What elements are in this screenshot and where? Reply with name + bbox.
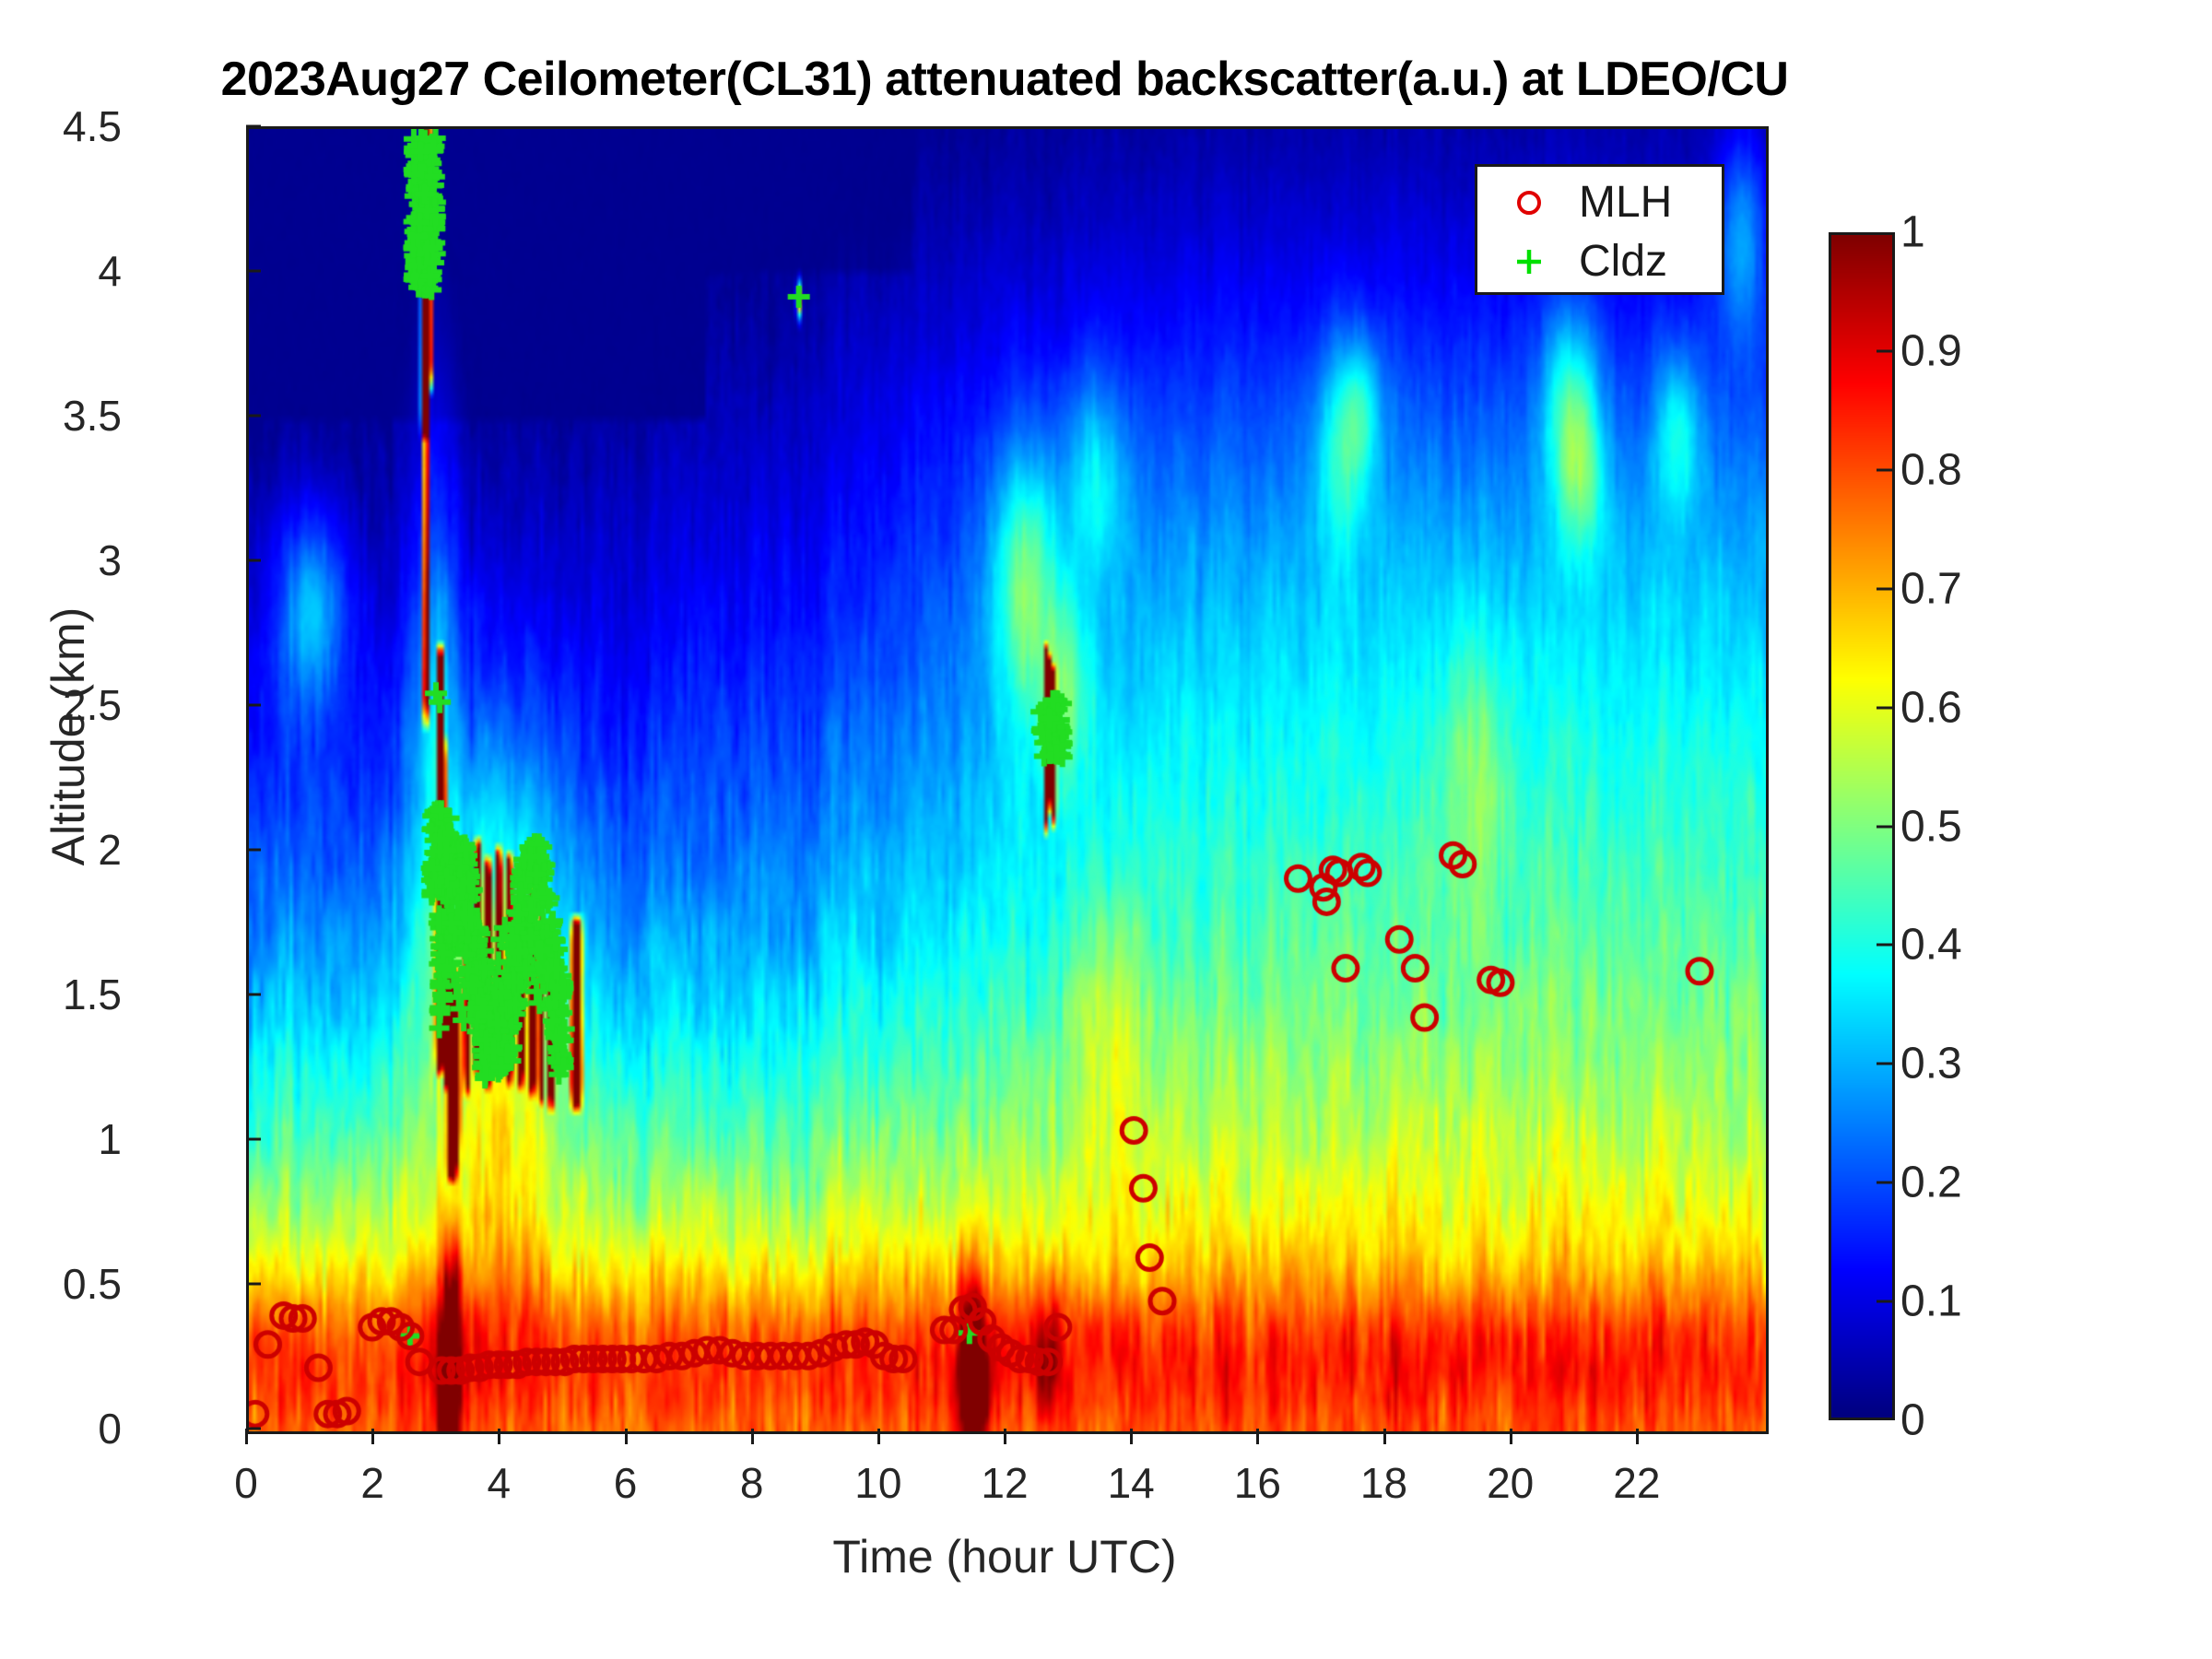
- x-tick-mark: [1004, 1429, 1006, 1444]
- y-tick-label: 1.5: [63, 970, 122, 1019]
- x-tick-mark: [1130, 1429, 1133, 1444]
- x-tick-label: 4: [488, 1458, 512, 1508]
- colorbar-tick-mark: [1877, 349, 1895, 352]
- colorbar-tick-mark: [1877, 1300, 1895, 1303]
- x-tick-mark: [245, 1429, 248, 1444]
- colorbar-tick-label: 0.3: [1900, 1039, 1962, 1089]
- colorbar-tick-label: 0.7: [1900, 563, 1962, 614]
- legend-entry-mlh[interactable]: MLH: [1477, 174, 1727, 231]
- colorbar-tick-mark: [1877, 706, 1895, 709]
- x-axis-label: Time (hour UTC): [246, 1530, 1763, 1583]
- y-tick-label: 0: [98, 1404, 122, 1453]
- x-tick-label: 10: [854, 1458, 901, 1508]
- x-tick-mark: [877, 1429, 880, 1444]
- y-tick-mark: [246, 849, 261, 852]
- colorbar-tick-label: 0.4: [1900, 920, 1962, 971]
- y-tick-mark: [246, 559, 261, 562]
- legend-entry-cldz[interactable]: Cldz: [1477, 233, 1727, 290]
- x-tick-mark: [625, 1429, 628, 1444]
- legend[interactable]: MLH Cldz: [1475, 164, 1724, 295]
- y-tick-label: 3.5: [63, 391, 122, 441]
- colorbar-tick-label: 0.6: [1900, 682, 1962, 733]
- circle-marker-icon: [1505, 174, 1553, 231]
- page-title: 2023Aug27 Ceilometer(CL31) attenuated ba…: [0, 52, 2009, 107]
- y-tick-mark: [246, 1283, 261, 1286]
- x-tick-mark: [1636, 1429, 1639, 1444]
- colorbar-tick-label: 0.9: [1900, 325, 1962, 376]
- y-tick-mark: [246, 415, 261, 418]
- colorbar-tick-mark: [1877, 944, 1895, 947]
- legend-label-mlh: MLH: [1579, 174, 1717, 231]
- colorbar-tick-label: 1: [1900, 207, 1925, 258]
- x-tick-label: 2: [360, 1458, 384, 1508]
- x-tick-label: 18: [1360, 1458, 1407, 1508]
- legend-label-cldz: Cldz: [1579, 233, 1717, 290]
- x-tick-mark: [1256, 1429, 1259, 1444]
- colorbar-tick-label: 0.2: [1900, 1158, 1962, 1208]
- x-tick-mark: [1383, 1429, 1386, 1444]
- y-tick-mark: [246, 1428, 261, 1430]
- x-tick-label: 20: [1487, 1458, 1534, 1508]
- colorbar-tick-mark: [1877, 825, 1895, 828]
- x-tick-label: 6: [614, 1458, 638, 1508]
- figure-canvas: 2023Aug27 Ceilometer(CL31) attenuated ba…: [0, 0, 2212, 1659]
- y-tick-label: 2.5: [63, 680, 122, 730]
- scatter-overlay: [249, 129, 1766, 1431]
- y-tick-label: 4: [98, 246, 122, 296]
- x-tick-label: 14: [1108, 1458, 1155, 1508]
- y-tick-mark: [246, 270, 261, 273]
- colorbar-tick-mark: [1877, 468, 1895, 471]
- colorbar-tick-mark: [1877, 587, 1895, 590]
- x-tick-label: 0: [234, 1458, 258, 1508]
- y-tick-label: 4.5: [63, 101, 122, 151]
- y-tick-label: 0.5: [63, 1259, 122, 1309]
- x-tick-mark: [751, 1429, 754, 1444]
- colorbar-tick-mark: [1877, 1182, 1895, 1184]
- colorbar-tick-label: 0: [1900, 1395, 1925, 1446]
- colorbar-tick-mark: [1877, 1063, 1895, 1065]
- colorbar-tick-label: 0.8: [1900, 444, 1962, 495]
- y-tick-label: 3: [98, 535, 122, 585]
- y-tick-mark: [246, 125, 261, 128]
- y-tick-label: 2: [98, 825, 122, 875]
- x-tick-label: 16: [1234, 1458, 1281, 1508]
- x-tick-mark: [371, 1429, 374, 1444]
- x-tick-label: 12: [981, 1458, 1028, 1508]
- plot-area: [246, 126, 1769, 1434]
- colorbar-tick-label: 0.5: [1900, 801, 1962, 852]
- x-tick-label: 8: [740, 1458, 764, 1508]
- x-tick-label: 22: [1613, 1458, 1660, 1508]
- y-tick-mark: [246, 994, 261, 996]
- y-axis-label: Altitude (km): [41, 497, 95, 976]
- colorbar-tick-label: 0.1: [1900, 1277, 1962, 1327]
- y-tick-mark: [246, 1138, 261, 1141]
- x-tick-mark: [1510, 1429, 1512, 1444]
- x-tick-mark: [498, 1429, 500, 1444]
- plus-marker-icon: [1505, 233, 1553, 290]
- y-tick-label: 1: [98, 1114, 122, 1164]
- y-tick-mark: [246, 704, 261, 707]
